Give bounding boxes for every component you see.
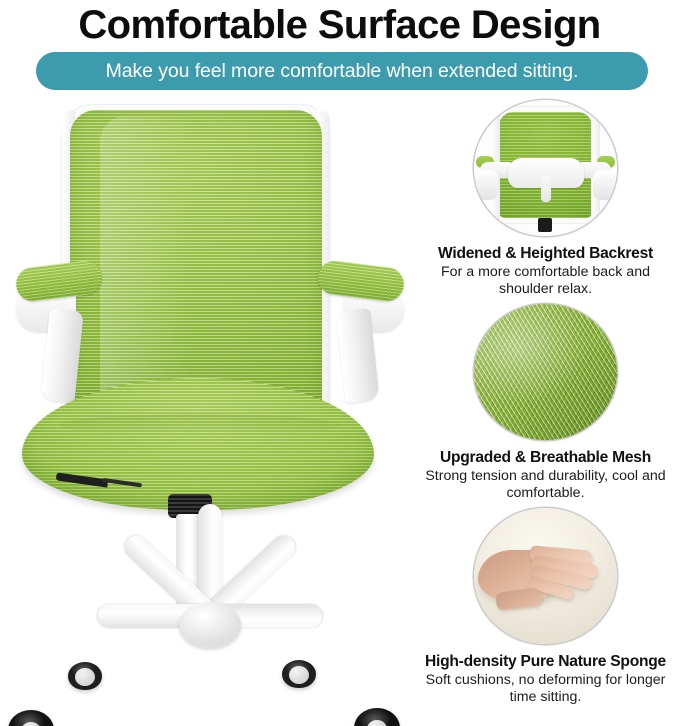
seat-crease xyxy=(60,414,340,436)
backrest-closeup-thumbnail xyxy=(474,100,617,236)
caster-left xyxy=(8,710,54,726)
armrest-left-pad xyxy=(14,259,104,303)
feature-description: Soft cushions, no deforming for longer t… xyxy=(412,672,679,706)
thumb1-arm-left xyxy=(474,170,498,200)
thumb2-mesh-texture xyxy=(474,304,617,440)
thumb1-lumbar-support xyxy=(508,158,584,188)
feature-item-sponge: High-density Pure Nature Sponge Soft cus… xyxy=(412,508,679,706)
mesh-fabric-macro-thumbnail xyxy=(474,304,617,440)
product-feature-page: Comfortable Surface Design Make you feel… xyxy=(0,0,679,726)
caster-back-right xyxy=(282,660,316,688)
feature-heading: Widened & Heighted Backrest xyxy=(412,244,679,263)
caster-back-left xyxy=(68,662,102,690)
hand-pressing-sponge-thumbnail xyxy=(474,508,617,644)
main-product-image xyxy=(0,96,420,726)
base-hub xyxy=(179,602,241,648)
thumb1-arm-right xyxy=(593,170,617,200)
feature-heading: Upgraded & Breathable Mesh xyxy=(412,448,679,467)
feature-item-backrest: Widened & Heighted Backrest For a more c… xyxy=(412,100,679,298)
feature-item-mesh: Upgraded & Breathable Mesh Strong tensio… xyxy=(412,304,679,502)
feature-heading: High-density Pure Nature Sponge xyxy=(412,652,679,671)
thumb1-stem xyxy=(538,218,552,232)
subtitle-banner: Make you feel more comfortable when exte… xyxy=(36,52,648,90)
feature-description: Strong tension and durability, cool and … xyxy=(412,468,679,502)
caster-right xyxy=(354,708,400,726)
page-title: Comfortable Surface Design xyxy=(0,2,679,48)
armrest-left xyxy=(8,264,118,384)
armrest-right xyxy=(302,264,412,384)
chair-five-star-base xyxy=(0,566,420,726)
feature-list: Widened & Heighted Backrest For a more c… xyxy=(412,100,679,726)
feature-description: For a more comfortable back and shoulder… xyxy=(412,264,679,298)
armrest-right-pad xyxy=(316,259,406,303)
subtitle-text: Make you feel more comfortable when exte… xyxy=(106,60,579,83)
